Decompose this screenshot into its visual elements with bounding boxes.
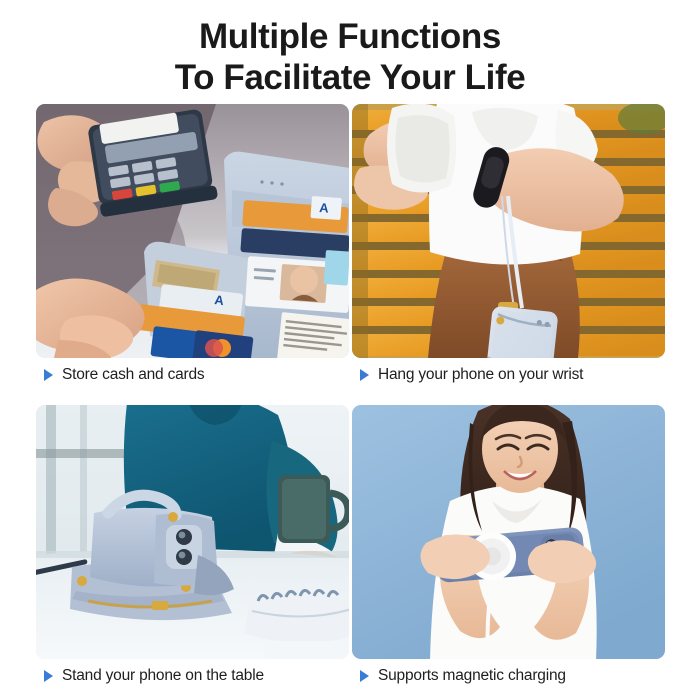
- triangle-right-icon: [360, 369, 369, 381]
- page-title-line-2: To Facilitate Your Life: [0, 57, 700, 98]
- feature-photo-stand-phone-on-table: [36, 405, 349, 659]
- feature-caption-text: Supports magnetic charging: [378, 667, 566, 685]
- svg-text:A: A: [319, 200, 330, 216]
- feature-cell-stand-phone-on-table: Stand your phone on the table: [36, 405, 349, 614]
- feature-caption-store-cash-and-cards: Store cash and cards: [44, 366, 204, 384]
- feature-caption-text: Stand your phone on the table: [62, 667, 264, 685]
- page-title: Multiple Functions To Facilitate Your Li…: [0, 16, 700, 98]
- product-feature-infographic: Multiple Functions To Facilitate Your Li…: [0, 0, 700, 700]
- triangle-right-icon: [360, 670, 369, 682]
- feature-photo-hang-phone-on-wrist: [352, 104, 665, 358]
- feature-cell-supports-magnetic-charging: Supports magnetic charging: [352, 405, 665, 614]
- feature-photo-supports-magnetic-charging: [352, 405, 665, 659]
- feature-grid: A: [36, 104, 665, 674]
- feature-photo-store-cash-and-cards: A: [36, 104, 349, 358]
- feature-caption-stand-phone-on-table: Stand your phone on the table: [44, 667, 264, 685]
- page-title-line-1: Multiple Functions: [0, 16, 700, 57]
- triangle-right-icon: [44, 670, 53, 682]
- triangle-right-icon: [44, 369, 53, 381]
- feature-cell-store-cash-and-cards: A: [36, 104, 349, 359]
- feature-caption-hang-phone-on-wrist: Hang your phone on your wrist: [360, 366, 583, 384]
- feature-cell-hang-phone-on-wrist: Hang your phone on your wrist: [352, 104, 665, 359]
- feature-caption-text: Hang your phone on your wrist: [378, 366, 583, 384]
- feature-caption-supports-magnetic-charging: Supports magnetic charging: [360, 667, 566, 685]
- feature-caption-text: Store cash and cards: [62, 366, 204, 384]
